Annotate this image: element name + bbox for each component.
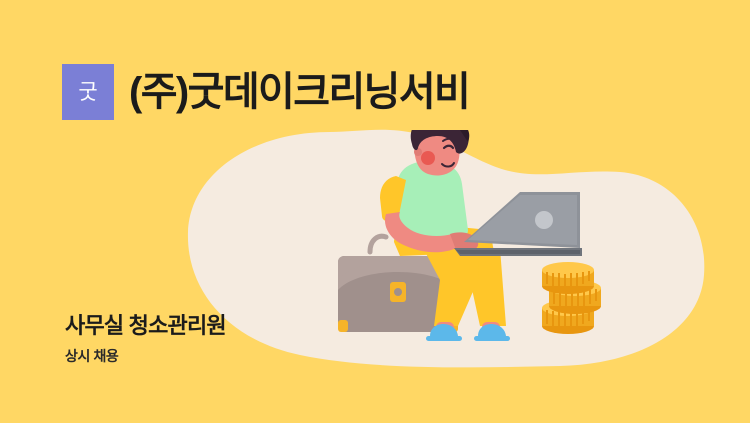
blush-cheek: [421, 151, 435, 165]
company-logo-badge: 굿: [62, 64, 114, 120]
banner-header: 굿 (주)굿데이크리닝서비: [62, 64, 469, 120]
banner-copy: 사무실 청소관리원 상시 채용: [65, 313, 226, 365]
shoe-back: [474, 324, 510, 341]
job-recruitment-banner: 굿 (주)굿데이크리닝서비: [0, 0, 750, 423]
company-name: (주)굿데이크리닝서비: [129, 72, 469, 112]
company-logo-text: 굿: [78, 82, 97, 103]
illustration-man-working-on-laptop: [330, 130, 650, 360]
job-title: 사무실 청소관리원: [65, 313, 226, 339]
job-subtitle: 상시 채용: [65, 348, 226, 365]
coin-stack-icon: [542, 262, 601, 334]
